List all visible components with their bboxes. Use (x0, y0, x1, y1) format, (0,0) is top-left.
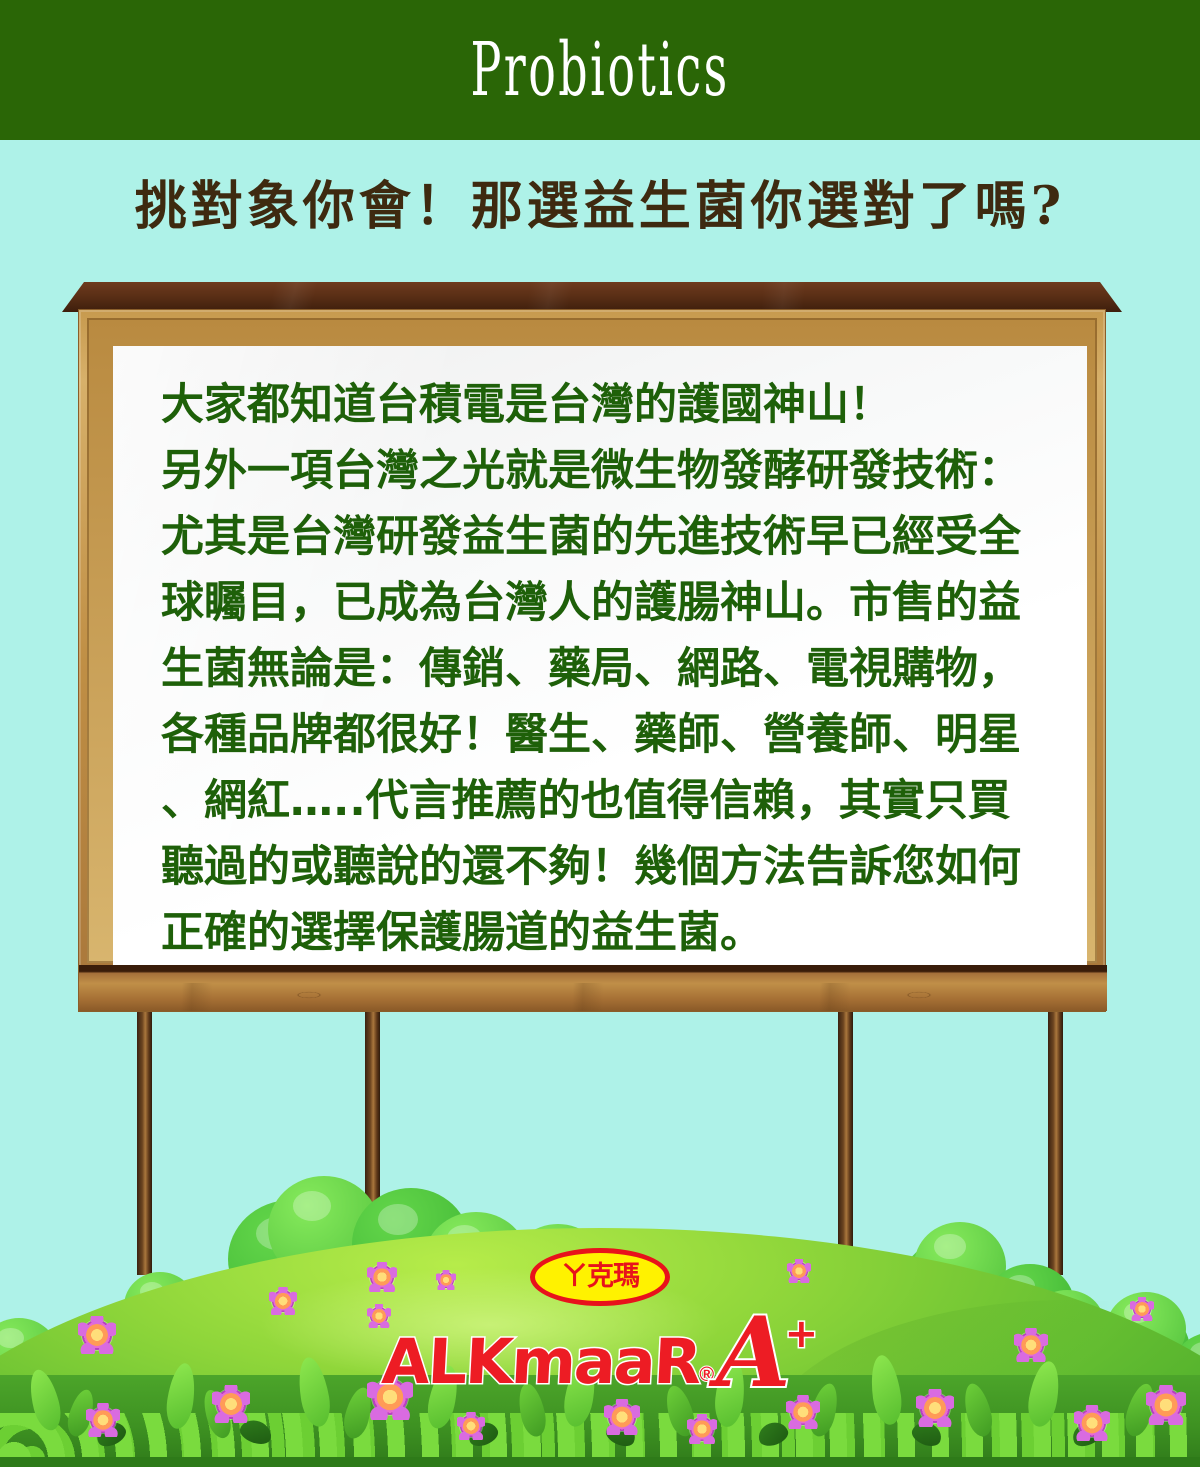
body-line: 大家都知道台積電是台灣的護國神山！ (161, 372, 1051, 438)
body-line: 生菌無論是：傳銷、藥局、網路、電視購物， (161, 636, 1051, 702)
billboard-frame: 大家都知道台積電是台灣的護國神山！ 另外一項台灣之光就是微生物發酵研發技術： 尤… (78, 309, 1106, 1012)
page-title: Probiotics (470, 33, 729, 107)
grass-flower (90, 1407, 116, 1433)
grass-flower (1078, 1409, 1106, 1437)
body-line: 尤其是台灣研發益生菌的先進技術早已經受全 (161, 504, 1051, 570)
billboard-panel: 大家都知道台積電是台灣的護國神山！ 另外一項台灣之光就是微生物發酵研發技術： 尤… (113, 346, 1087, 968)
grass-flower (790, 1399, 816, 1425)
logo-grade-letter: A (716, 1314, 790, 1393)
header-banner: Probiotics (0, 0, 1200, 140)
registered-mark-icon: ® (699, 1365, 714, 1393)
grass-flower (608, 1403, 636, 1431)
grass-flower (216, 1389, 246, 1419)
billboard-body-text: 大家都知道台積電是台灣的護國神山！ 另外一項台灣之光就是微生物發酵研發技術： 尤… (161, 372, 1051, 966)
logo-wordmark-row: ALKmaaR ® A + (0, 1314, 1200, 1393)
grass-flower (690, 1417, 714, 1441)
body-line: 另外一項台灣之光就是微生物發酵研發技術： (161, 438, 1051, 504)
grass-flower (920, 1393, 950, 1423)
poster-root: Probiotics 挑對象你會！那選益生菌你選對了嗎? (0, 0, 1200, 1467)
subtitle-headline: 挑對象你會！那選益生菌你選對了嗎? (0, 178, 1200, 235)
logo-badge: ㄚ克瑪 (530, 1248, 670, 1306)
body-line: 聽過的或聽說的還不夠！幾個方法告訴您如何 (161, 834, 1051, 900)
logo-badge-text: ㄚ克瑪 (535, 1253, 665, 1301)
body-line: 、網紅…..代言推薦的也值得信賴，其實只買 (161, 768, 1051, 834)
body-line: 正確的選擇保護腸道的益生菌。 (161, 900, 1051, 966)
billboard: 大家都知道台積電是台灣的護國神山！ 另外一項台灣之光就是微生物發酵研發技術： 尤… (62, 282, 1122, 1012)
logo-brand-text: ALKmaaR (380, 1331, 701, 1393)
body-line: 各種品牌都很好！醫生、藥師、營養師、明星 (161, 702, 1051, 768)
brand-logo: ㄚ克瑪 ALKmaaR ® A + (0, 1248, 1200, 1393)
billboard-top-cap (62, 282, 1122, 312)
body-line: 球矚目，已成為台灣人的護腸神山。市售的益 (161, 570, 1051, 636)
grass-flower (1150, 1389, 1182, 1421)
grass-flower (460, 1415, 482, 1437)
billboard-bottom-rail (79, 965, 1107, 1011)
